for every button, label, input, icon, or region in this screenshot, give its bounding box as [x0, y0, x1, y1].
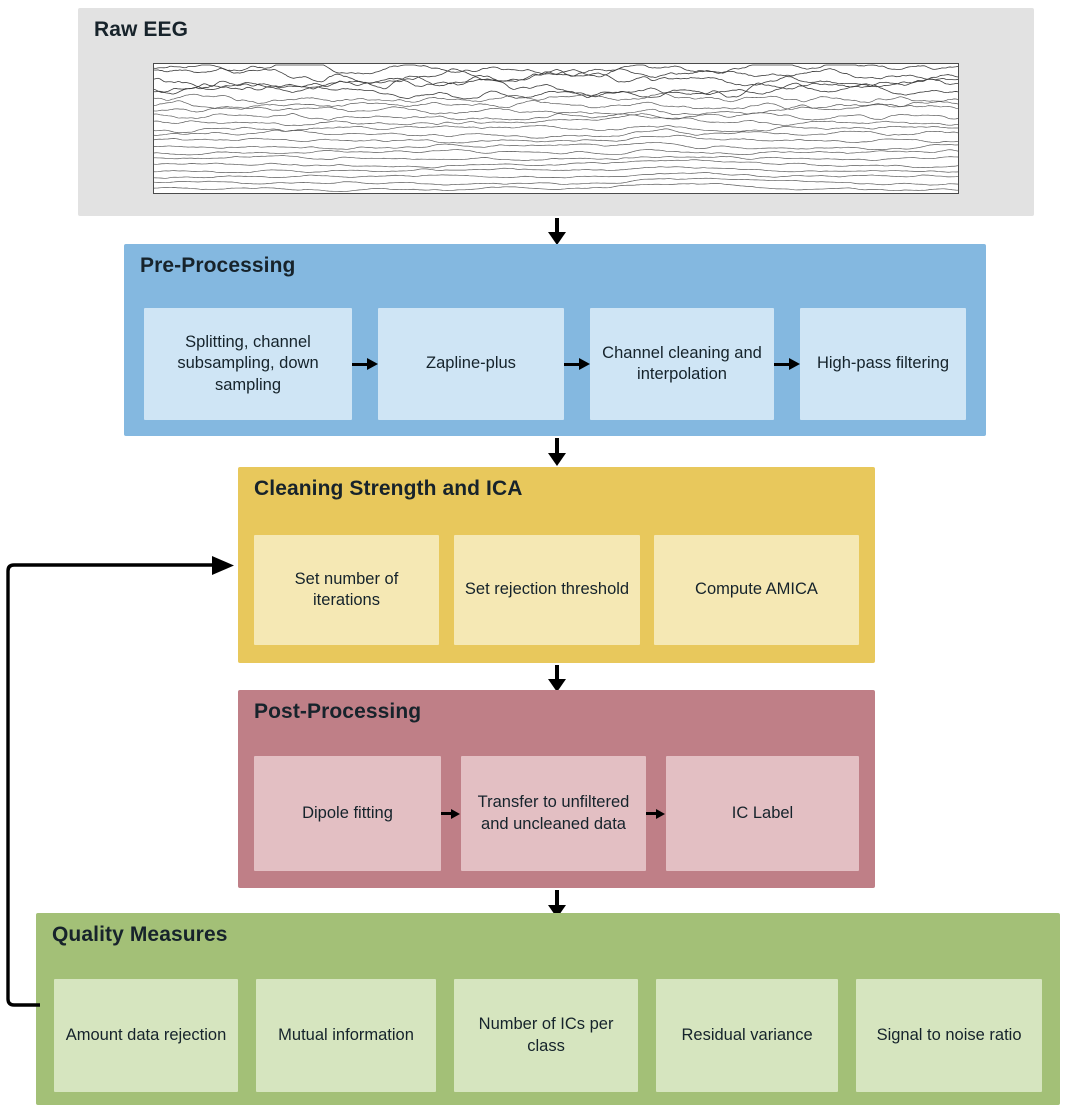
step-label: IC Label	[732, 803, 793, 824]
step-label: Number of ICs per class	[462, 1014, 630, 1056]
arrow-pre-3-to-4	[774, 308, 800, 420]
gap-qm-2-to-3	[436, 979, 454, 1092]
gap-qm-3-to-4	[638, 979, 656, 1092]
quality-measures-step-row: Amount data rejection Mutual information…	[54, 979, 1042, 1092]
eeg-traces-svg	[154, 64, 958, 193]
arrow-right-icon	[646, 808, 666, 820]
step-label: Compute AMICA	[695, 579, 818, 600]
step-label: Set number of iterations	[262, 569, 431, 611]
step-box-high-pass-filtering[interactable]: High-pass filtering	[800, 308, 966, 420]
arrow-right-icon	[352, 358, 378, 370]
step-label: Signal to noise ratio	[877, 1025, 1022, 1046]
arrow-pre-2-to-3	[564, 308, 590, 420]
step-label: Transfer to unfiltered and uncleaned dat…	[469, 792, 638, 834]
step-label: Dipole fitting	[302, 803, 393, 824]
arrow-post-1-to-2	[441, 756, 461, 871]
step-label: High-pass filtering	[817, 353, 949, 374]
cleaning-ica-step-row: Set number of iterations Set rejection t…	[254, 535, 859, 645]
section-title-post-processing: Post-Processing	[254, 700, 421, 724]
step-box-zapline-plus[interactable]: Zapline-plus	[378, 308, 564, 420]
step-label: Set rejection threshold	[465, 579, 629, 600]
section-quality-measures: Quality Measures Amount data rejection M…	[36, 913, 1060, 1105]
section-title-quality-measures: Quality Measures	[52, 923, 228, 947]
step-box-channel-cleaning-interpolation[interactable]: Channel cleaning and interpolation	[590, 308, 774, 420]
step-box-dipole-fitting[interactable]: Dipole fitting	[254, 756, 441, 871]
arrow-post-2-to-3	[646, 756, 666, 871]
post-processing-step-row: Dipole fitting Transfer to unfiltered an…	[254, 756, 859, 871]
arrow-pre-1-to-2	[352, 308, 378, 420]
section-title-cleaning-strength-and-ica: Cleaning Strength and ICA	[254, 477, 523, 501]
step-box-residual-variance[interactable]: Residual variance	[656, 979, 838, 1092]
section-cleaning-strength-and-ica: Cleaning Strength and ICA Set number of …	[238, 467, 875, 663]
step-box-mutual-information[interactable]: Mutual information	[256, 979, 436, 1092]
step-label: Channel cleaning and interpolation	[598, 343, 766, 385]
section-raw-eeg: Raw EEG	[78, 8, 1034, 216]
section-title-pre-processing: Pre-Processing	[140, 254, 295, 278]
step-box-transfer-to-unfiltered-uncleaned-data[interactable]: Transfer to unfiltered and uncleaned dat…	[461, 756, 646, 871]
step-label: Mutual information	[278, 1025, 414, 1046]
step-label: Splitting, channel subsampling, down sam…	[152, 332, 344, 395]
arrow-right-icon	[441, 808, 461, 820]
pre-processing-step-row: Splitting, channel subsampling, down sam…	[144, 308, 966, 420]
step-box-number-of-ics-per-class[interactable]: Number of ICs per class	[454, 979, 638, 1092]
section-pre-processing: Pre-Processing Splitting, channel subsam…	[124, 244, 986, 436]
step-box-set-number-of-iterations[interactable]: Set number of iterations	[254, 535, 439, 645]
step-box-signal-to-noise-ratio[interactable]: Signal to noise ratio	[856, 979, 1042, 1092]
section-post-processing: Post-Processing Dipole fitting Transfer …	[238, 690, 875, 888]
step-box-ic-label[interactable]: IC Label	[666, 756, 859, 871]
step-box-compute-amica[interactable]: Compute AMICA	[654, 535, 859, 645]
gap-qm-4-to-5	[838, 979, 856, 1092]
arrow-right-icon	[774, 358, 800, 370]
step-label: Residual variance	[681, 1025, 812, 1046]
step-label: Amount data rejection	[66, 1025, 227, 1046]
step-box-amount-data-rejection[interactable]: Amount data rejection	[54, 979, 238, 1092]
gap-qm-1-to-2	[238, 979, 256, 1092]
gap-ica-2-to-3	[640, 535, 654, 645]
arrow-head-icon	[212, 556, 234, 575]
diagram-canvas: Raw EEG Pre-Processing Splitting, channe…	[0, 0, 1080, 1112]
eeg-trace-plot	[153, 63, 959, 194]
step-box-set-rejection-threshold[interactable]: Set rejection threshold	[454, 535, 640, 645]
arrow-right-icon	[564, 358, 590, 370]
step-label: Zapline-plus	[426, 353, 516, 374]
step-box-splitting-subsampling-downsampling[interactable]: Splitting, channel subsampling, down sam…	[144, 308, 352, 420]
section-title-raw-eeg: Raw EEG	[94, 18, 188, 42]
gap-ica-1-to-2	[439, 535, 454, 645]
